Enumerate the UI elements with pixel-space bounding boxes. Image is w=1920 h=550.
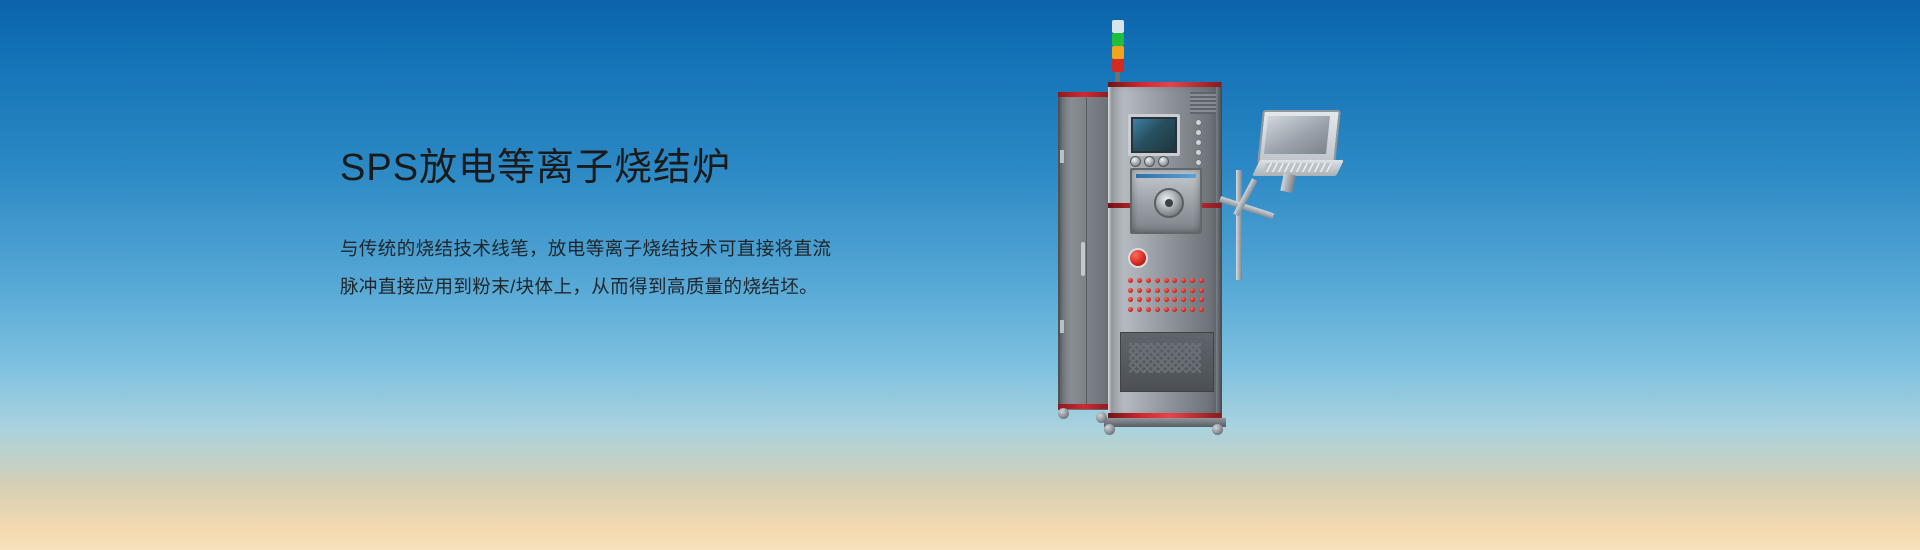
control-knob: [1158, 156, 1169, 167]
grid-lamp: [1155, 297, 1160, 302]
grid-lamp: [1155, 278, 1160, 283]
rear-accent-stripe-top: [1058, 92, 1110, 97]
grid-lamp: [1181, 278, 1186, 283]
grid-lamp: [1181, 288, 1186, 293]
rear-door-handle: [1081, 242, 1085, 276]
grid-lamp: [1164, 288, 1169, 293]
control-knob: [1130, 156, 1141, 167]
laptop-keys: [1262, 163, 1332, 172]
grid-lamp: [1137, 278, 1142, 283]
grid-lamp: [1164, 278, 1169, 283]
grid-lamp: [1172, 288, 1177, 293]
grid-lamp: [1155, 307, 1160, 312]
description-line-2: 脉冲直接应用到粉末/块体上，从而得到高质量的烧结坯。: [340, 268, 860, 305]
indicator-lamp-grid: [1128, 278, 1206, 314]
grid-lamp: [1172, 278, 1177, 283]
caster-wheel: [1104, 424, 1115, 435]
grid-lamp: [1146, 288, 1151, 293]
tower-lamp-green: [1112, 33, 1124, 46]
grid-lamp: [1128, 297, 1133, 302]
rear-hinge-bottom: [1060, 320, 1064, 333]
grid-lamp: [1190, 307, 1195, 312]
grid-lamp: [1190, 288, 1195, 293]
hmi-touchscreen: [1128, 114, 1180, 156]
grid-lamp: [1137, 307, 1142, 312]
grid-lamp: [1172, 297, 1177, 302]
grid-lamp: [1199, 278, 1204, 283]
caster-wheel: [1212, 424, 1223, 435]
emergency-stop-button: [1128, 248, 1148, 268]
indicator-lamp: [1196, 120, 1201, 125]
description-line-1: 与传统的烧结技术线笔，放电等离子烧结技术可直接将直流: [340, 230, 860, 267]
machine-base: [1104, 418, 1226, 427]
accent-stripe-top: [1108, 82, 1221, 87]
tower-lamp-white: [1112, 20, 1124, 33]
sps-furnace-image: [1040, 20, 1340, 430]
rear-hinge-top: [1060, 150, 1064, 163]
laptop-arm-post: [1236, 170, 1242, 280]
tower-lamp-red: [1112, 59, 1124, 72]
grid-lamp: [1172, 307, 1177, 312]
ventilation-grille-icon: [1190, 92, 1216, 114]
grid-lamp: [1146, 297, 1151, 302]
rear-door-seam: [1086, 98, 1087, 404]
hmi-screen-glass: [1133, 119, 1175, 151]
grid-lamp: [1190, 297, 1195, 302]
lower-access-panel: [1120, 332, 1214, 392]
grid-lamp: [1128, 307, 1133, 312]
chamber-viewport-icon: [1154, 188, 1184, 218]
banner-text-block: SPS放电等离子烧结炉 与传统的烧结技术线笔，放电等离子烧结技术可直接将直流 脉…: [340, 143, 860, 305]
grid-lamp: [1199, 297, 1204, 302]
grid-lamp: [1181, 297, 1186, 302]
vacuum-chamber-door: [1130, 168, 1202, 234]
hero-banner: SPS放电等离子烧结炉 与传统的烧结技术线笔，放电等离子烧结技术可直接将直流 脉…: [0, 0, 1920, 550]
grid-lamp: [1164, 307, 1169, 312]
mesh-grille-icon: [1129, 343, 1201, 373]
indicator-lamp: [1196, 130, 1201, 135]
grid-lamp: [1146, 278, 1151, 283]
tower-lamp-amber: [1112, 46, 1124, 59]
caster-wheel: [1096, 412, 1107, 423]
indicator-lamp: [1196, 140, 1201, 145]
grid-lamp: [1146, 307, 1151, 312]
control-laptop: [1256, 110, 1340, 188]
laptop-mount-bracket: [1280, 173, 1295, 193]
grid-lamp: [1199, 288, 1204, 293]
banner-description: 与传统的烧结技术线笔，放电等离子烧结技术可直接将直流 脉冲直接应用到粉末/块体上…: [340, 230, 860, 305]
grid-lamp: [1128, 278, 1133, 283]
grid-lamp: [1199, 307, 1204, 312]
grid-lamp: [1155, 288, 1160, 293]
grid-lamp: [1190, 278, 1195, 283]
front-cabinet-left-edge: [1108, 82, 1112, 418]
page-title: SPS放电等离子烧结炉: [340, 143, 860, 194]
grid-lamp: [1181, 307, 1186, 312]
grid-lamp: [1137, 288, 1142, 293]
laptop-screen: [1264, 116, 1330, 154]
indicator-lamp: [1196, 160, 1201, 165]
grid-lamp: [1137, 297, 1142, 302]
indicator-lamp: [1196, 150, 1201, 155]
grid-lamp: [1128, 288, 1133, 293]
status-tower-light-icon: [1112, 20, 1124, 88]
caster-wheel: [1058, 408, 1069, 419]
control-knob: [1144, 156, 1155, 167]
chamber-top-bar: [1136, 174, 1196, 178]
rear-cabinet: [1058, 92, 1112, 410]
grid-lamp: [1164, 297, 1169, 302]
front-cabinet-right-edge: [1216, 82, 1221, 418]
